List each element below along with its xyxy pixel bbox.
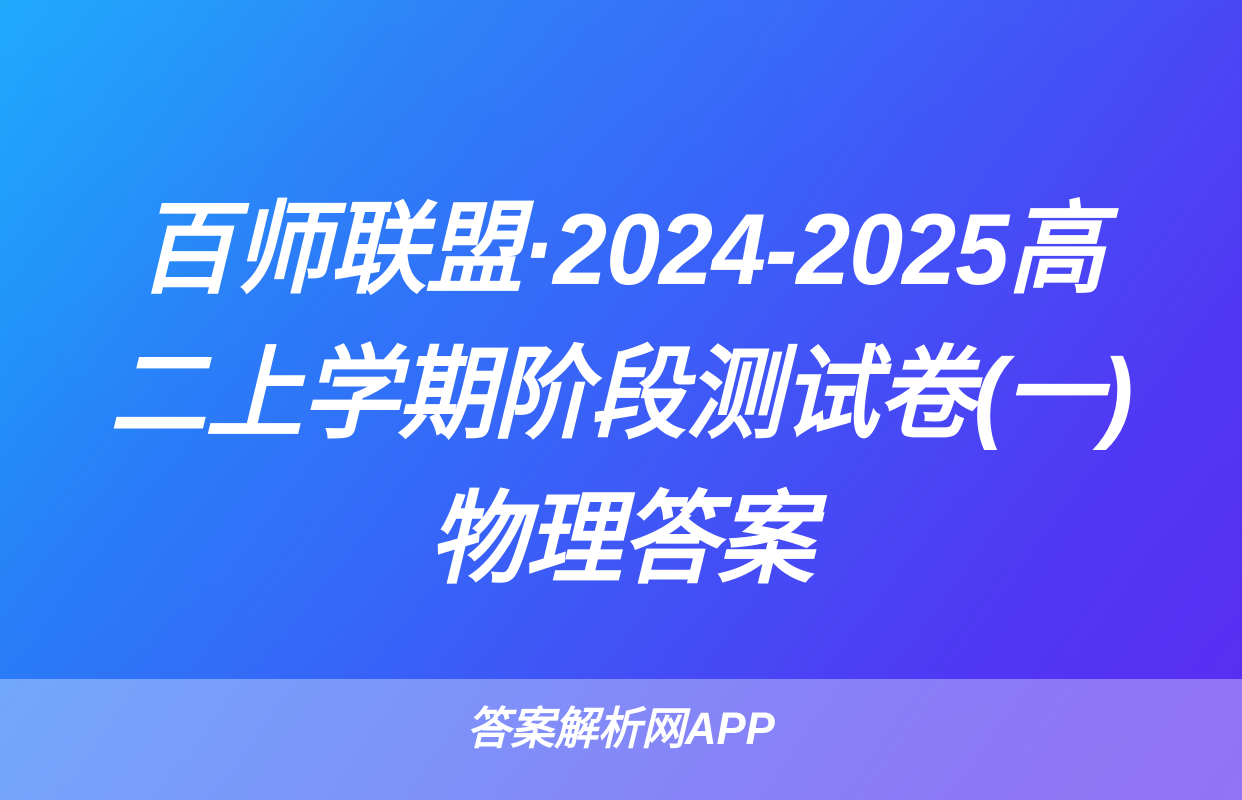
poster-canvas: 百师联盟·2024-2025高 二上学期阶段测试卷(一) 物理答案 答案解析网A… [0,0,1242,800]
footer-brand-band: 答案解析网APP [0,679,1242,800]
footer-brand-label: 答案解析网APP [467,705,775,753]
title-line-3: 物理答案 [100,468,1143,613]
poster-title: 百师联盟·2024-2025高 二上学期阶段测试卷(一) 物理答案 [0,178,1242,613]
title-line-1: 百师联盟·2024-2025高 [100,178,1143,323]
title-line-2: 二上学期阶段测试卷(一) [100,323,1143,468]
